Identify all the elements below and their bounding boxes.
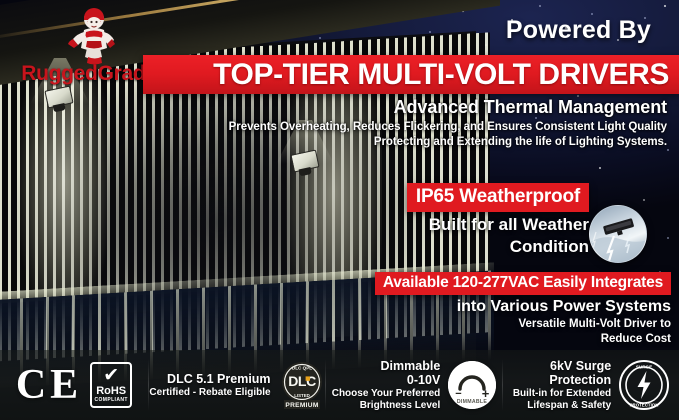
certification-bar: CE ✔ RoHS COMPLIANT DLC 5.1 Premium Cert… [0,350,679,420]
weatherproof-sub-line-1: Built for all Weather [407,216,589,234]
eyebrow-text: Powered By [506,16,651,45]
rohs-checkmark-icon: ✔ [103,366,119,385]
ip65-badge: IP65 Weatherproof [407,183,589,212]
ce-mark-icon: CE [16,364,82,406]
dimmable-subtitle-line-1: Choose Your Preferred [332,388,441,399]
cert-cell-dimmable: Dimmable 0-10V Choose Your Preferred Bri… [326,350,502,420]
dimmable-title-line-2: 0-10V [332,373,441,387]
svg-text:DIMMABLE: DIMMABLE [457,399,488,405]
thermal-line-2: Protecting and Extending the life of Lig… [229,136,667,148]
surge-subtitle-line-2: Lifespan & Safety [513,400,611,411]
headline-banner: TOP-TIER MULTI-VOLT DRIVERS [143,55,679,94]
dlc-title: DLC 5.1 Premium [149,372,270,386]
voltage-block: Available 120-277VAC Easily Integrates i… [375,272,671,346]
dimmable-title-line-1: Dimmable [332,359,441,373]
rohs-title: RoHS [96,386,126,397]
floodlight-in-rain-photo [589,205,647,263]
rohs-compliant-icon: ✔ RoHS COMPLIANT [90,362,132,408]
cert-cell-dlc: DLC 5.1 Premium Certified - Rebate Eligi… [149,350,325,420]
svg-text:PROTECTION: PROTECTION [630,403,659,408]
voltage-badge: Available 120-277VAC Easily Integrates [375,272,671,295]
svg-text:SURGE: SURGE [636,364,652,369]
svg-text:LISTED: LISTED [294,393,310,398]
surge-text: 6kV Surge Protection Built-in for Extend… [513,359,611,411]
dlc-subtitle: Certified - Rebate Eligible [149,387,270,398]
weatherproof-block: IP65 Weatherproof Built for all Weather … [407,183,669,257]
brand-name: RuggedGrade [16,62,162,86]
voltage-line-1: into Various Power Systems [375,298,671,316]
thermal-management-block: Advanced Thermal Management Prevents Ove… [229,97,667,148]
muscular-mascot-icon [64,8,120,66]
svg-text:DLC QPL: DLC QPL [291,366,311,371]
dimmable-subtitle-line-2: Brightness Level [332,400,441,411]
voltage-line-2: Versatile Multi-Volt Driver to [375,318,671,331]
thermal-line-1: Prevents Overheating, Reduces Flickering… [229,121,667,133]
weatherproof-sub-line-2: Condition [407,238,589,256]
surge-subtitle-line-1: Built-in for Extended [513,388,611,399]
surge-title-line-2: Protection [513,373,611,387]
dimmable-text: Dimmable 0-10V Choose Your Preferred Bri… [332,359,441,411]
dlc-text: DLC 5.1 Premium Certified - Rebate Eligi… [149,372,270,398]
dlc-premium-badge-icon: DLC QPL DLC LISTED PREMIUM [279,360,325,410]
brand-logo[interactable]: RuggedGrade [16,8,162,86]
dimmer-dial-icon: − + DIMMABLE [448,361,496,409]
thermal-heading: Advanced Thermal Management [229,97,667,118]
svg-text:PREMIUM: PREMIUM [285,402,318,409]
cert-cell-surge-protection: 6kV Surge Protection Built-in for Extend… [503,350,679,420]
svg-text:DLC: DLC [288,373,316,389]
cert-cell-ce-rohs: CE ✔ RoHS COMPLIANT [0,350,148,420]
voltage-line-3: Reduce Cost [375,333,671,346]
surge-title-line-1: 6kV Surge [513,359,611,373]
lightning-bolt-surge-icon: SURGE PROTECTION [619,360,669,410]
rohs-subtitle: COMPLIANT [95,397,128,404]
marketing-banner: RuggedGrade Powered By TOP-TIER MULTI-VO… [0,0,679,420]
headline-title: TOP-TIER MULTI-VOLT DRIVERS [213,58,669,92]
